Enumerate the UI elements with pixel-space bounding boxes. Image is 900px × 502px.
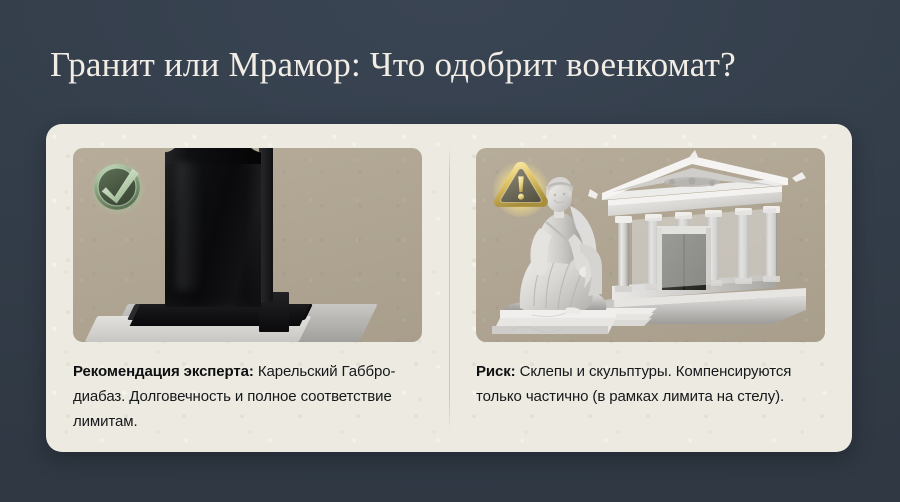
granite-stele-highlight — [177, 162, 203, 290]
granite-stele-side — [259, 148, 273, 303]
panel-granite: Рекомендация эксперта: Карельский Габбро… — [46, 124, 449, 452]
page-title: Гранит или Мрамор: Что одобрит военкомат… — [50, 44, 870, 86]
granite-image-panel — [73, 148, 422, 342]
marble-caption-label: Риск: — [476, 363, 516, 380]
marble-image-panel — [476, 148, 825, 342]
comparison-card: Рекомендация эксперта: Карельский Габбро… — [46, 124, 852, 452]
green-check-badge-icon — [87, 156, 149, 218]
panel-marble: Риск: Склепы и скульптуры. Компенсируютс… — [449, 124, 852, 452]
marble-caption: Риск: Склепы и скульптуры. Компенсируютс… — [476, 359, 825, 409]
granite-caption: Рекомендация эксперта: Карельский Габбро… — [73, 359, 422, 434]
granite-caption-label: Рекомендация эксперта: — [73, 363, 254, 380]
warning-triangle-icon — [490, 156, 552, 218]
slide-background: Гранит или Мрамор: Что одобрит военкомат… — [0, 0, 900, 502]
marble-caption-text: Склепы и скульптуры. Компенсируются толь… — [476, 363, 791, 405]
